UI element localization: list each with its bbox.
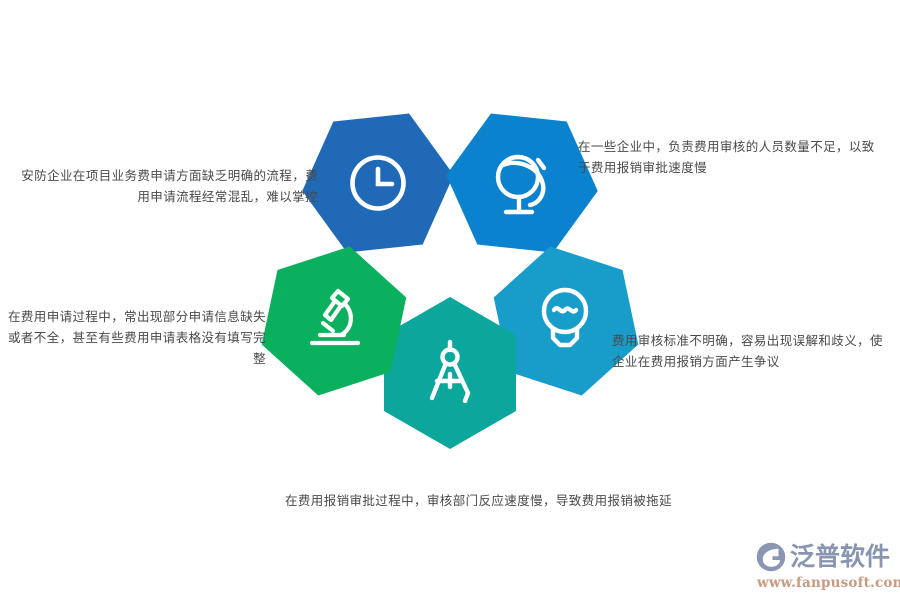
brand-logo[interactable]: 泛普软件 www.fanpusoft.com	[756, 540, 896, 594]
callout-delay: 在费用报销审批过程中，审核部门反应速度慢，导致费用报销被拖延	[285, 491, 705, 512]
logo-url: www.fanpusoft.com	[757, 575, 896, 591]
callout-standard: 费用审核标准不明确，容易出现误解和歧义，使企业在费用报销方面产生争议	[612, 331, 892, 373]
fanpu-swoosh-logo-icon	[756, 542, 786, 572]
callout-staff: 在一些企业中，负责费用审核的人员数量不足，以致于费用报销审批速度慢	[578, 137, 878, 179]
hex-segment-delay[interactable]	[384, 297, 516, 449]
logo-row: 泛普软件	[756, 540, 896, 574]
hex-segment-staff[interactable]	[424, 83, 620, 284]
logo-wordmark: 泛普软件	[790, 542, 890, 572]
callout-info: 在费用申请过程中，常出现部分申请信息缺失或者不全，甚至有些费用申请表格没有填写完…	[8, 307, 266, 370]
callout-flow: 安防企业在项目业务费申请方面缺乏明确的流程，费用申请流程经常混乱，难以掌控	[18, 166, 318, 208]
infographic-canvas: 安防企业在项目业务费申请方面缺乏明确的流程，费用申请流程经常混乱，难以掌控 在一…	[0, 0, 900, 600]
